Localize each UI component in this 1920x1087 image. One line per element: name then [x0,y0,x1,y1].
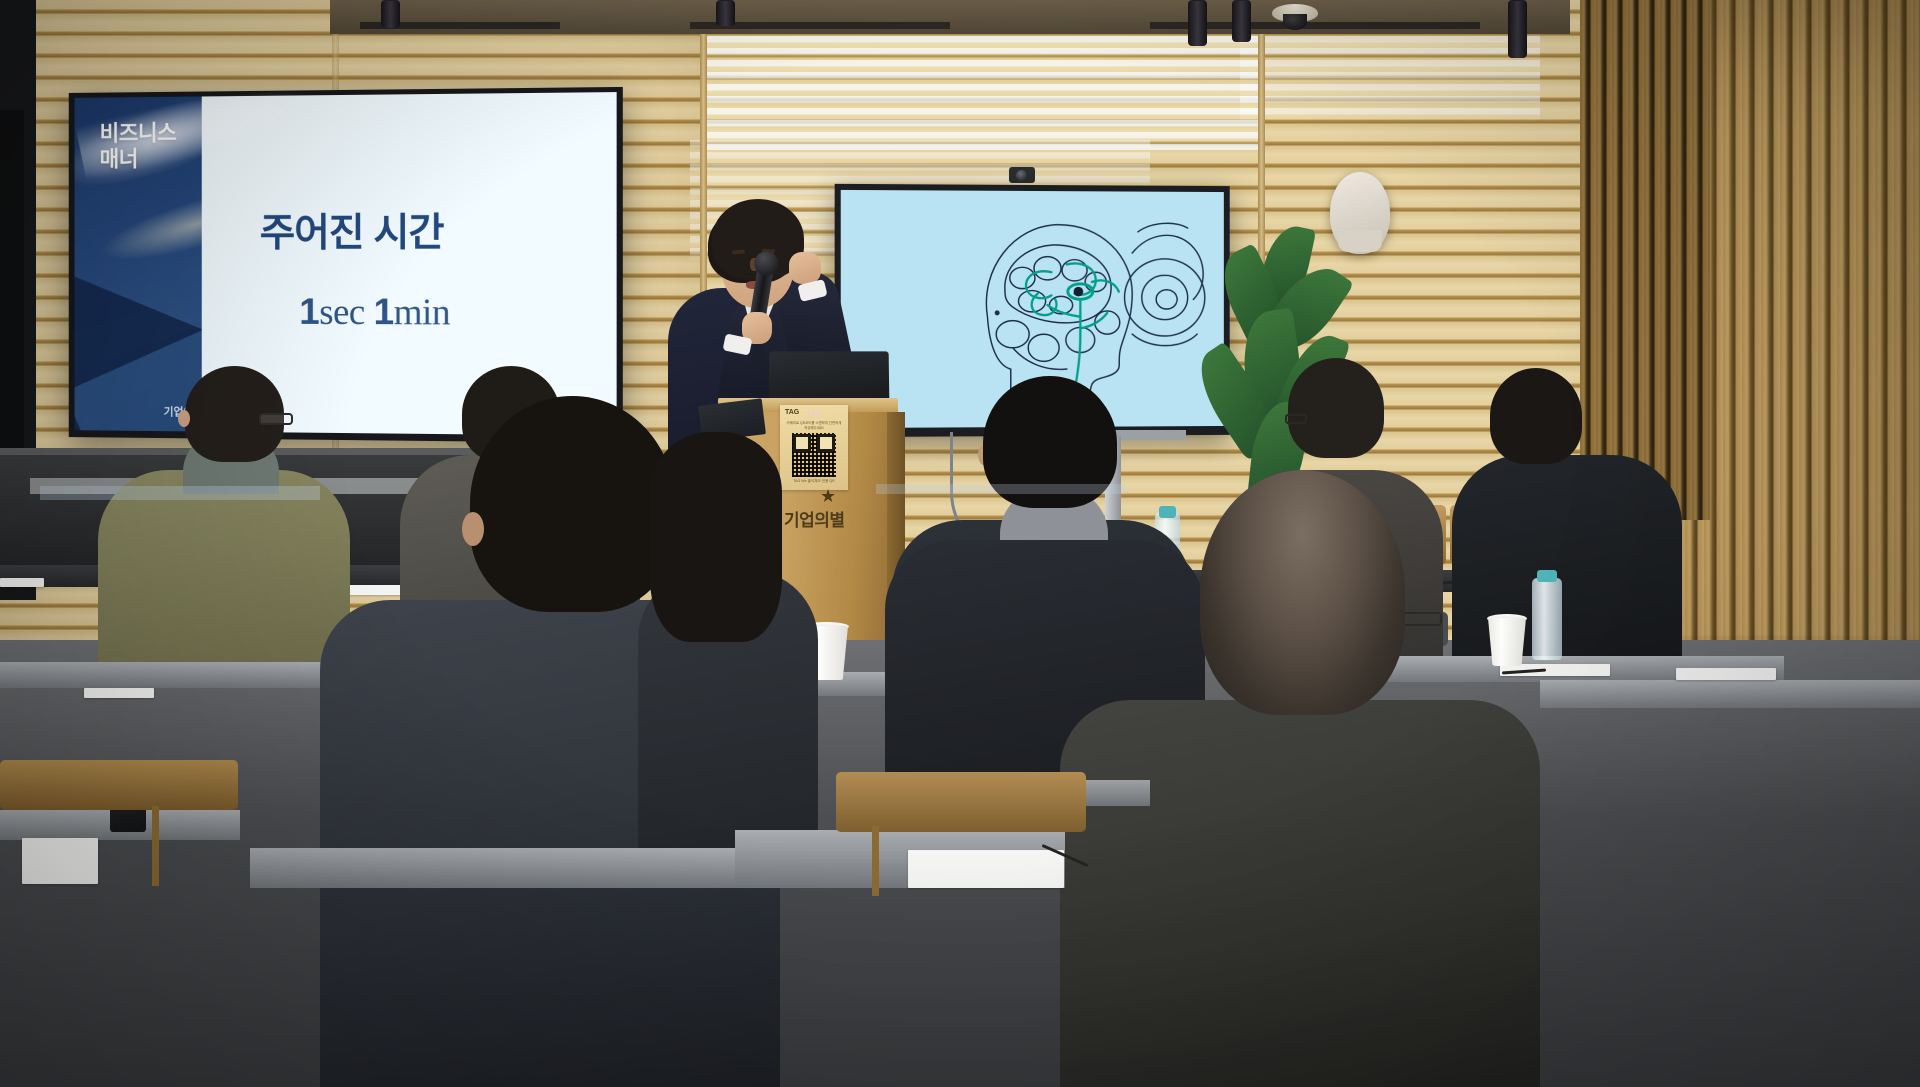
qr-caption-text: TAG We 출석체크 전용 QR [784,479,844,484]
ceiling-camera-icon [1009,167,1035,183]
bottle-cap [1537,570,1557,582]
qr-code-icon[interactable] [792,433,836,477]
desk-foreground-mid [250,848,750,888]
paper-cup [1488,618,1526,666]
eyeglasses-icon [259,413,293,425]
spotlight-icon-1 [381,0,400,28]
spotlight-icon-4 [1232,0,1251,42]
handout-sheet [22,838,98,884]
audience-hair [1490,368,1582,464]
qr-instruction-text: 카메라로 QR코드를 스캔하여 간편하게 작성해주세요! [785,421,843,431]
eyeglasses-icon [1285,414,1307,424]
vertical-slat-wall-dark [1580,0,1710,520]
slide-brand-line1: 비즈니스 [100,121,177,147]
chair [0,760,238,810]
audience-torso [98,470,350,685]
audience-hair [470,396,675,612]
handout-sheet [908,850,1064,888]
slide-sub-unit1: sec [319,292,365,333]
podium-brand-label: 기업의별 [784,506,845,531]
audience-ear [178,410,190,427]
slide-brand-line2: 매너 [100,146,177,172]
chair [836,772,1086,832]
handout-sheet [84,688,154,698]
slide-subtext: 1sec 1min [299,291,450,335]
audience-torso [1060,700,1540,1087]
credenza-reflection [40,486,320,500]
bottle-cap [1159,506,1176,518]
desk-front-left [0,662,330,688]
qr-tag-label: TAG [785,409,799,416]
dome-camera-icon [1272,4,1318,22]
audience-hair [1288,358,1384,458]
slide-sub-num1: 1 [299,291,319,332]
water-bottle [1532,578,1562,660]
slide-brand-title: 비즈니스 매너 [100,121,177,172]
star-icon: ★ [820,487,836,505]
spotlight-icon-5 [1508,0,1527,58]
slide-sub-num2: 1 [374,291,394,332]
audience-ear [462,512,484,546]
floor-reflection [876,484,1126,494]
spotlight-icon-3 [1188,0,1207,46]
chair-leg [152,806,159,886]
seminar-photo: 비즈니스 매너 주어진 시간 1sec 1min 기업의별 [0,0,1920,1087]
qr-attendance-card[interactable]: TAG We 카메라로 QR코드를 스캔하여 간편하게 작성해주세요! TAG … [780,405,848,490]
audience-hair [650,432,782,642]
slide-headline: 주어진 시간 [260,202,444,258]
handout-sheet [1676,668,1776,680]
chair-leg [872,826,879,896]
audience-torso [1452,455,1682,665]
handout-sheet [0,578,44,587]
speaker-raised-hand [789,252,821,284]
slide-sub-unit2: min [394,292,450,333]
desk-right-far [1540,680,1920,708]
spotlight-icon-2 [716,0,735,26]
wall-disc-base [1338,230,1382,252]
audience-hair [1200,470,1405,715]
laptop[interactable] [769,351,890,404]
